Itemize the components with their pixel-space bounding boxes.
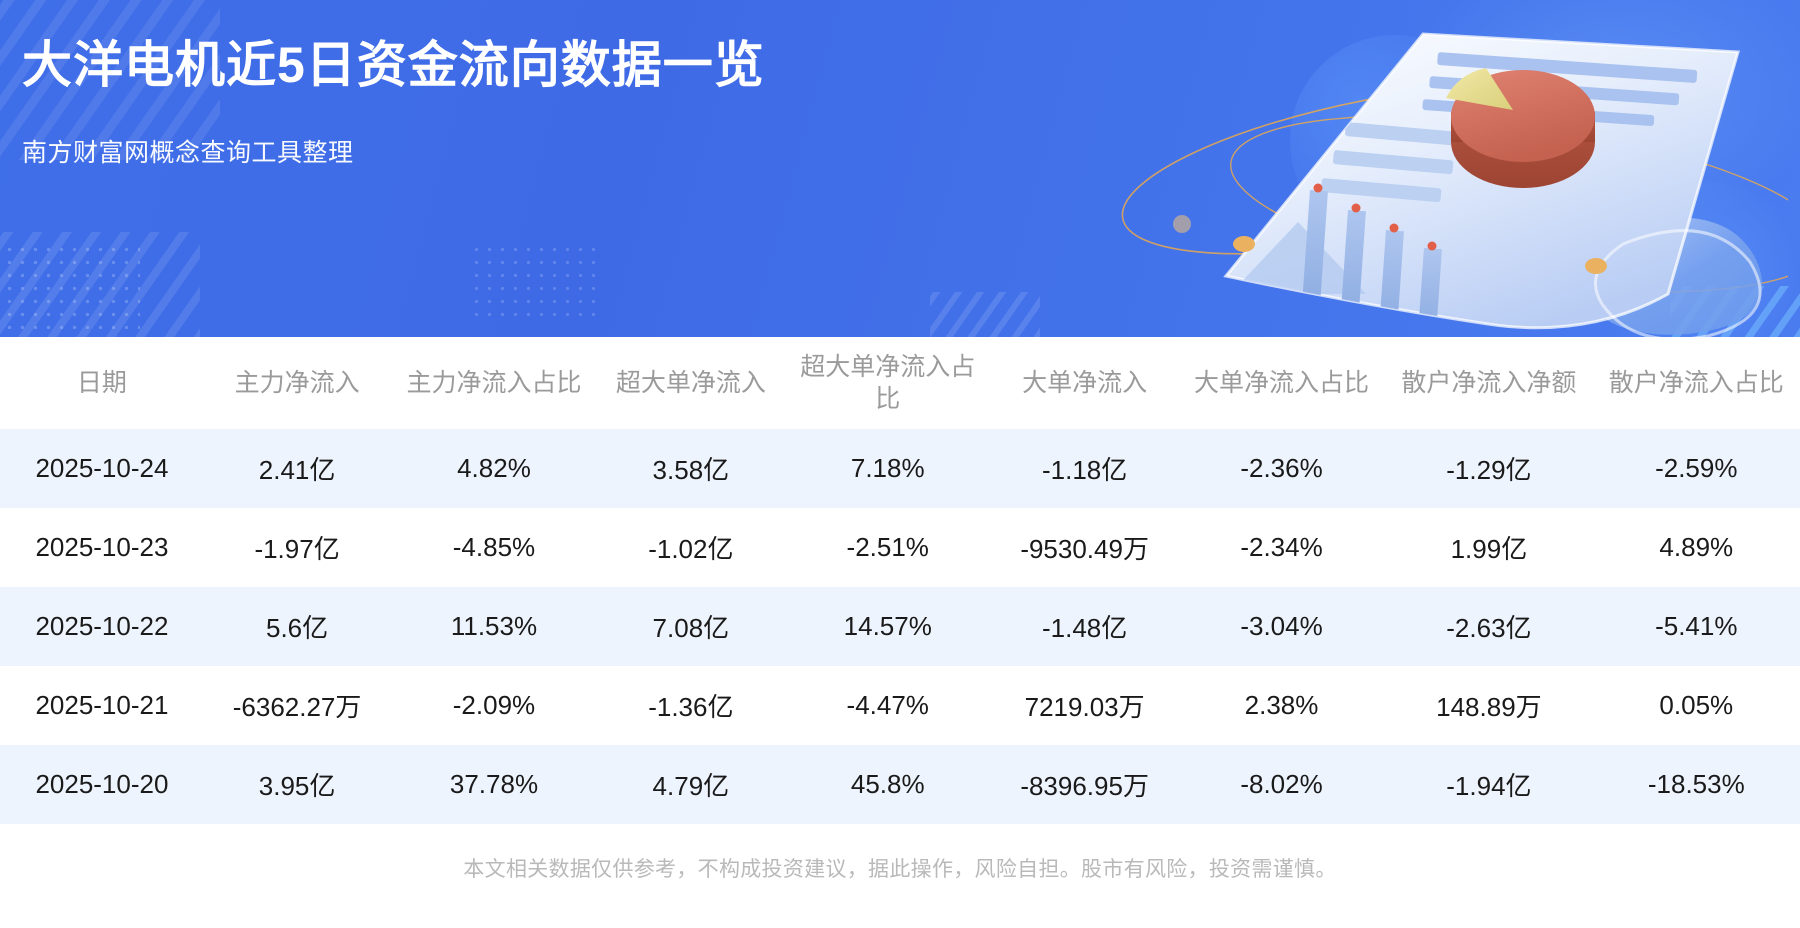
data-table-container: 南方财富网 Southmoney.com 日期 主力净流入 主力净流入占比 超大… [0,337,1800,824]
orbit-lines [1109,51,1788,323]
cell-retail-pct: 4.89% [1593,508,1800,587]
cell-xlarge-pct: 45.8% [784,745,991,824]
paper-pie-chart [1446,68,1595,188]
cell-main-net: -1.97亿 [204,508,390,587]
page-title: 大洋电机近5日资金流向数据一览 [22,36,765,95]
financial-report-illustration [968,0,1788,337]
page-subtitle: 南方财富网概念查询工具整理 [22,133,765,169]
cell-xlarge-pct: -4.47% [784,666,991,745]
cell-large-net: -9530.49万 [991,508,1177,587]
decorative-glow [1400,0,1800,240]
cell-main-net: 3.95亿 [204,745,390,824]
cell-main-pct: 37.78% [390,745,597,824]
cell-large-net: 7219.03万 [991,666,1177,745]
cell-xlarge-pct: 14.57% [784,587,991,666]
column-header-large-pct: 大单净流入占比 [1178,337,1385,429]
pie-slice-highlight [1446,68,1513,110]
column-header-xlarge-net: 超大单净流入 [598,337,784,429]
cell-xlarge-net: 7.08亿 [598,587,784,666]
table-header: 日期 主力净流入 主力净流入占比 超大单净流入 超大单净流入占比 大单净流入 大… [0,337,1800,429]
cell-main-pct: 4.82% [390,429,597,508]
page-banner: 大洋电机近5日资金流向数据一览 南方财富网概念查询工具整理 [0,0,1800,337]
cell-retail-net: 1.99亿 [1385,508,1592,587]
cell-date: 2025-10-23 [0,508,204,587]
table-row: 2025-10-23 -1.97亿 -4.85% -1.02亿 -2.51% -… [0,508,1800,587]
column-header-date: 日期 [0,337,204,429]
cell-large-net: -1.48亿 [991,587,1177,666]
table-header-row: 日期 主力净流入 主力净流入占比 超大单净流入 超大单净流入占比 大单净流入 大… [0,337,1800,429]
paper-bar-chart [1230,184,1442,328]
cell-main-net: 2.41亿 [204,429,390,508]
cell-retail-net: -1.29亿 [1385,429,1592,508]
cell-retail-pct: 0.05% [1593,666,1800,745]
cell-retail-pct: -2.59% [1593,429,1800,508]
cell-xlarge-net: -1.02亿 [598,508,784,587]
column-header-retail-pct: 散户净流入占比 [1593,337,1800,429]
decorative-stripes-bottom-left [0,232,200,337]
page-root: 大洋电机近5日资金流向数据一览 南方财富网概念查询工具整理 南方财富网 Sout… [0,0,1800,928]
cell-main-pct: 11.53% [390,587,597,666]
paper-text-lines-top [1422,52,1697,126]
cell-xlarge-pct: -2.51% [784,508,991,587]
table-body: 2025-10-24 2.41亿 4.82% 3.58亿 7.18% -1.18… [0,429,1800,824]
cell-retail-net: -2.63亿 [1385,587,1592,666]
cell-date: 2025-10-20 [0,745,204,824]
banner-text-block: 大洋电机近5日资金流向数据一览 南方财富网概念查询工具整理 [22,36,765,169]
paper-curl-front-outline [1595,231,1760,337]
paper-curl-back [1578,217,1762,334]
cell-large-pct: -8.02% [1178,745,1385,824]
cell-main-net: -6362.27万 [204,666,390,745]
cell-large-pct: -2.36% [1178,429,1385,508]
decorative-stripes-bottom-right [1670,286,1800,337]
decorative-blob-b [1580,180,1800,337]
decorative-dots-bottom-left [0,243,140,329]
report-sheet [1226,34,1738,328]
column-header-main-pct: 主力净流入占比 [390,337,597,429]
cell-large-pct: -2.34% [1178,508,1385,587]
cell-retail-net: 148.89万 [1385,666,1592,745]
cell-large-pct: -3.04% [1178,587,1385,666]
cell-retail-pct: -5.41% [1593,587,1800,666]
cell-main-pct: -2.09% [390,666,597,745]
cell-large-net: -8396.95万 [991,745,1177,824]
table-row: 2025-10-22 5.6亿 11.53% 7.08亿 14.57% -1.4… [0,587,1800,666]
cell-large-net: -1.18亿 [991,429,1177,508]
cell-main-pct: -4.85% [390,508,597,587]
column-header-large-net: 大单净流入 [991,337,1177,429]
cell-date: 2025-10-22 [0,587,204,666]
cell-retail-pct: -18.53% [1593,745,1800,824]
disclaimer-text: 本文相关数据仅供参考，不构成投资建议，据此操作，风险自担。股市有风险，投资需谨慎… [0,853,1800,883]
decorative-stripes-mid [930,292,1040,337]
table-row: 2025-10-21 -6362.27万 -2.09% -1.36亿 -4.47… [0,666,1800,745]
cell-xlarge-pct: 7.18% [784,429,991,508]
cell-xlarge-net: 4.79亿 [598,745,784,824]
decorative-dots-bottom-mid [470,243,600,323]
column-header-main-net: 主力净流入 [204,337,390,429]
fund-flow-table: 日期 主力净流入 主力净流入占比 超大单净流入 超大单净流入占比 大单净流入 大… [0,337,1800,824]
cell-retail-net: -1.94亿 [1385,745,1592,824]
cell-large-pct: 2.38% [1178,666,1385,745]
column-header-retail-net: 散户净流入净额 [1385,337,1592,429]
orbit-nodes [1173,215,1707,337]
table-row: 2025-10-20 3.95亿 37.78% 4.79亿 45.8% -839… [0,745,1800,824]
cell-main-net: 5.6亿 [204,587,390,666]
cell-date: 2025-10-21 [0,666,204,745]
paper-text-lines-left [1321,122,1466,202]
cell-date: 2025-10-24 [0,429,204,508]
decorative-blob-a [1290,35,1500,245]
cell-xlarge-net: -1.36亿 [598,666,784,745]
table-row: 2025-10-24 2.41亿 4.82% 3.58亿 7.18% -1.18… [0,429,1800,508]
cell-xlarge-net: 3.58亿 [598,429,784,508]
column-header-xlarge-pct: 超大单净流入占比 [784,337,991,429]
